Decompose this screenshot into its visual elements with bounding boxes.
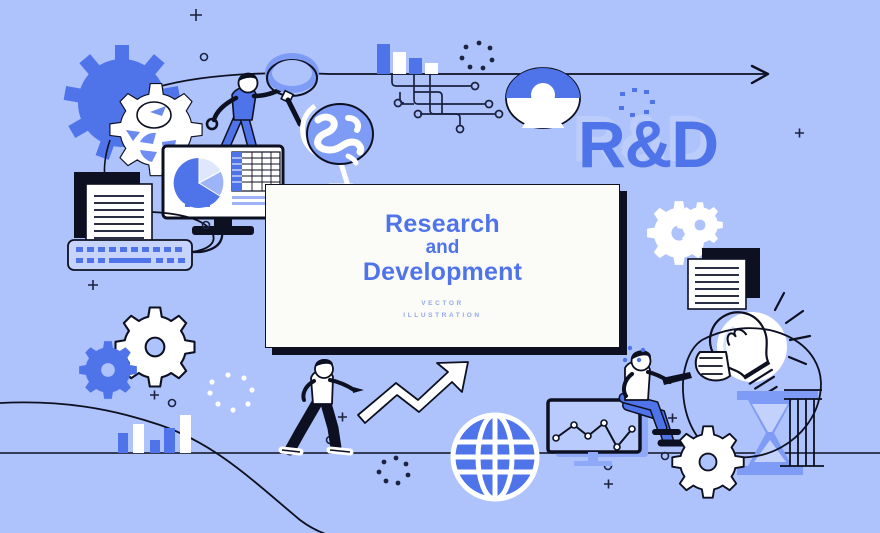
globe-wire-icon [453,415,537,499]
illustration-canvas: R&D Research and Development VECTOR ILLU… [0,0,880,533]
avatar-icon [506,68,580,128]
card-title-line-2: and [426,238,460,259]
card-subtitle: VECTOR ILLUSTRATION [403,298,481,321]
document-stack-left [74,172,152,250]
headline-rd: R&D [578,106,718,182]
gear-white-bottom-right [672,426,743,497]
title-card: Research and Development VECTOR ILLUSTRA… [265,184,620,348]
card-title-line-1: Research [385,211,500,237]
keyboard-icon [68,240,192,270]
pie-chart [174,158,224,208]
card-title-line-3: Development [363,259,522,285]
card-subtitle-line-1: VECTOR [403,298,481,309]
card-subtitle-line-2: ILLUSTRATION [403,310,481,321]
